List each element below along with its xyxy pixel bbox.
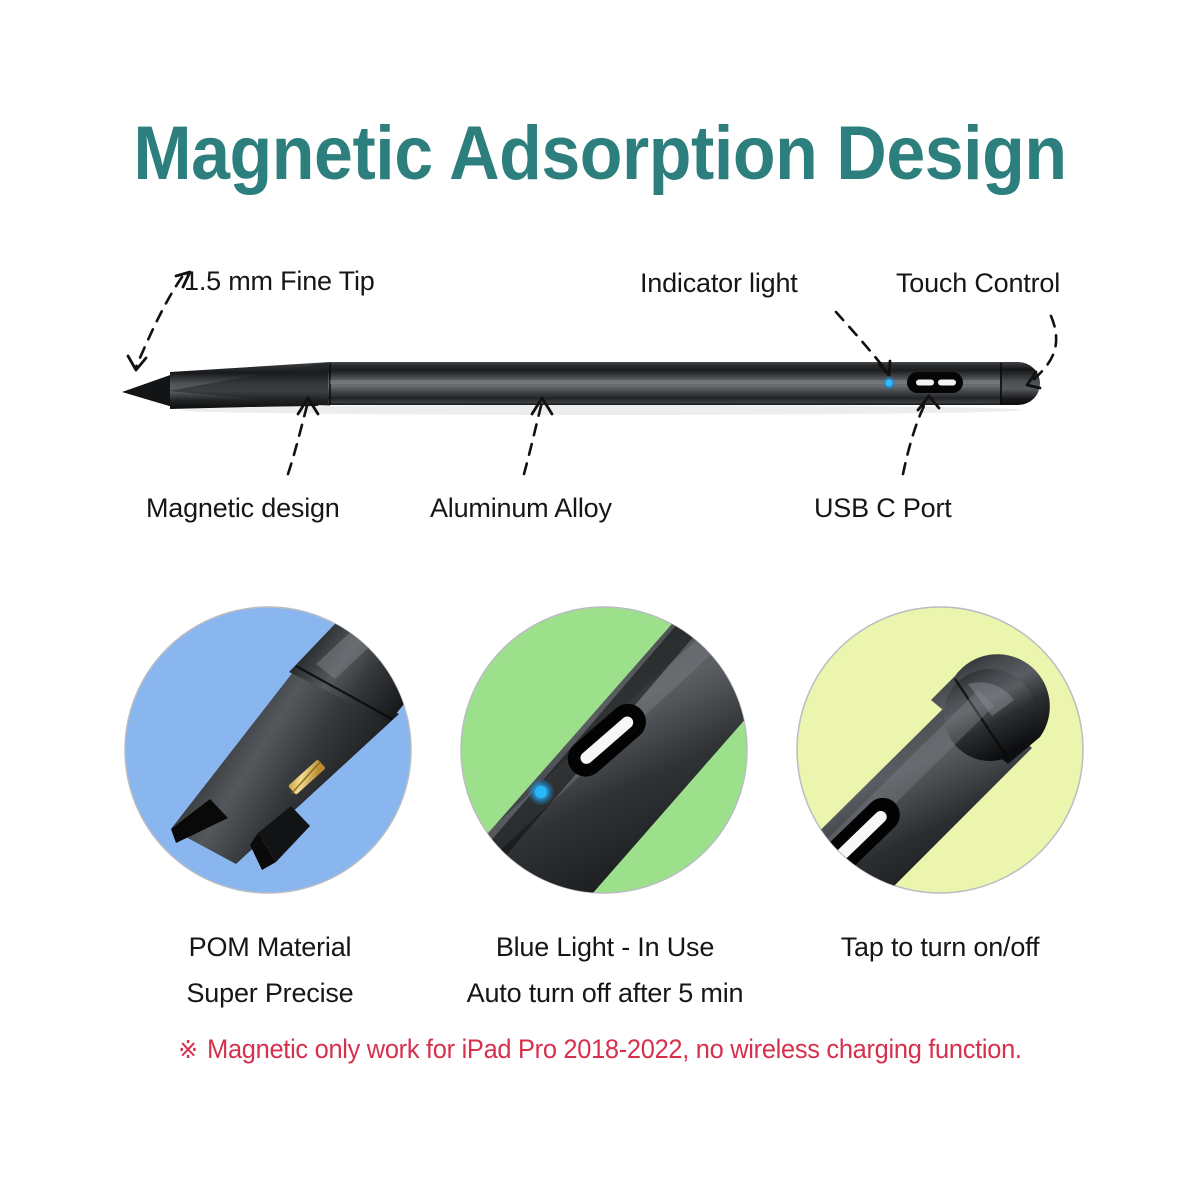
footnote-mark-icon: ※ (178, 1036, 197, 1064)
caption-2-line-2: Auto turn off after 5 min (430, 970, 780, 1016)
circle-2-led-core (535, 786, 547, 798)
feature-circles-row (0, 0, 1200, 1200)
footnote-text: Magnetic only work for iPad Pro 2018-202… (207, 1034, 1022, 1064)
footnote: ※Magnetic only work for iPad Pro 2018-20… (36, 1034, 1164, 1065)
caption-1-line-2: Super Precise (95, 970, 445, 1016)
caption-2-line-1: Blue Light - In Use (430, 924, 780, 970)
feature-circle-tap-power (760, 607, 1083, 954)
infographic-stage: Magnetic Adsorption Design (0, 0, 1200, 1200)
caption-1-line-1: POM Material (95, 924, 445, 970)
circle-caption-blue-light: Blue Light - In Use Auto turn off after … (430, 924, 780, 1017)
feature-circle-blue-light (447, 585, 790, 958)
circle-caption-tap-power: Tap to turn on/off (790, 924, 1090, 970)
circle-caption-pom: POM Material Super Precise (95, 924, 445, 1017)
caption-3-line-1: Tap to turn on/off (790, 924, 1090, 970)
feature-circle-pom (125, 602, 441, 893)
